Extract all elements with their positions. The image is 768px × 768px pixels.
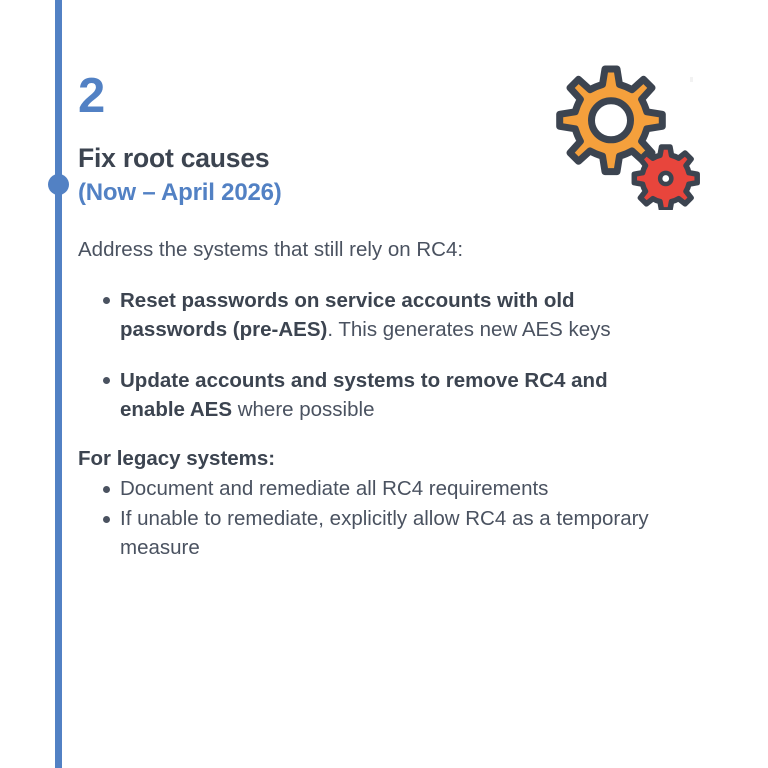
bullet-dot-icon	[103, 377, 110, 384]
step-number: 2	[78, 72, 678, 121]
list-item: Update accounts and systems to remove RC…	[78, 366, 678, 424]
legacy-item-text: If unable to remediate, explicitly allow…	[120, 507, 649, 558]
main-bullet-list: Reset passwords on service accounts with…	[78, 286, 678, 424]
legacy-bullet-list: Document and remediate all RC4 requireme…	[78, 475, 678, 562]
legacy-section-heading: For legacy systems:	[78, 446, 678, 473]
bullet-dot-icon	[103, 516, 110, 523]
bullet-dot-icon	[103, 486, 110, 493]
bullet-rest: . This generates new AES keys	[327, 318, 610, 341]
intro-text: Address the systems that still rely on R…	[78, 236, 678, 264]
list-item: Document and remediate all RC4 requireme…	[78, 475, 678, 503]
list-item: Reset passwords on service accounts with…	[78, 286, 678, 344]
list-item: If unable to remediate, explicitly allow…	[78, 505, 678, 562]
page-title: Fix root causes	[78, 143, 678, 173]
step-timeframe: (Now – April 2026)	[78, 179, 678, 208]
timeline-track	[55, 0, 62, 768]
bullet-rest: where possible	[232, 398, 374, 421]
bullet-dot-icon	[103, 297, 110, 304]
stray-artifact	[690, 77, 693, 82]
timeline-dot-icon	[48, 174, 69, 195]
step-content: 2 Fix root causes (Now – April 2026) Add…	[78, 72, 678, 564]
legacy-item-text: Document and remediate all RC4 requireme…	[120, 477, 548, 500]
